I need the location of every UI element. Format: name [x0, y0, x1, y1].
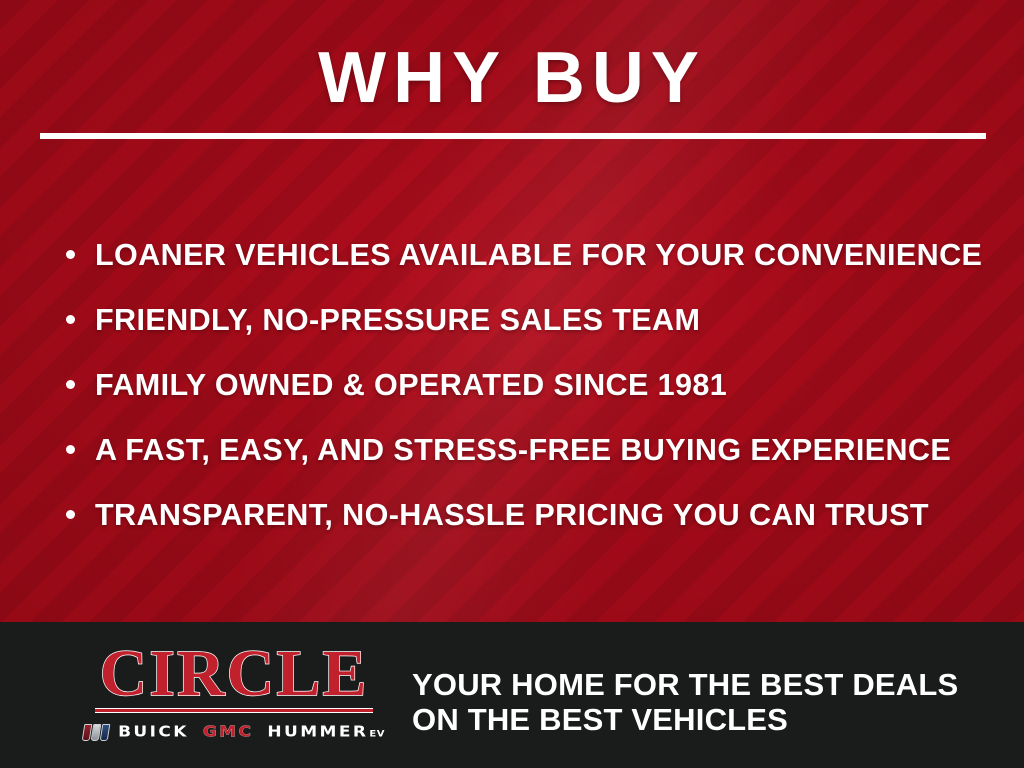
- brand-label-hummer-ev-suffix: EV: [369, 730, 385, 740]
- logo-wordmark: CIRCLE: [88, 642, 380, 705]
- benefits-list: LOANER VEHICLES AVAILABLE FOR YOUR CONVE…: [64, 222, 984, 547]
- title-divider-rule: [40, 133, 986, 139]
- brand-label-hummer-group: HUMMER EV: [267, 722, 385, 742]
- list-item-label: LOANER VEHICLES AVAILABLE FOR YOUR CONVE…: [95, 237, 982, 273]
- bullet-dot-icon: [66, 250, 75, 259]
- slide-body: WHY BUY LOANER VEHICLES AVAILABLE FOR YO…: [0, 0, 1024, 622]
- bullet-dot-icon: [66, 510, 75, 519]
- footer-tagline: YOUR HOME FOR THE BEST DEALS ON THE BEST…: [412, 668, 958, 737]
- brand-strip: BUICK GMC HUMMER EV: [88, 722, 380, 742]
- brand-label-gmc: GMC: [203, 724, 254, 742]
- bullet-dot-icon: [66, 445, 75, 454]
- buick-tri-shield-icon: [83, 724, 109, 741]
- footer-bar: CIRCLE BUICK GMC HUMMER EV YOUR HOME F: [0, 622, 1024, 768]
- bullet-dot-icon: [66, 380, 75, 389]
- dealership-logo: CIRCLE BUICK GMC HUMMER EV: [88, 642, 380, 742]
- list-item: FAMILY OWNED & OPERATED SINCE 1981: [64, 352, 984, 417]
- brand-label-hummer: HUMMER: [267, 724, 368, 742]
- list-item: LOANER VEHICLES AVAILABLE FOR YOUR CONVE…: [64, 222, 984, 287]
- list-item-label: FRIENDLY, NO-PRESSURE SALES TEAM: [95, 302, 700, 338]
- tagline-line-2: ON THE BEST VEHICLES: [412, 703, 958, 738]
- tagline-line-1: YOUR HOME FOR THE BEST DEALS: [412, 668, 958, 703]
- list-item-label: TRANSPARENT, NO-HASSLE PRICING YOU CAN T…: [95, 497, 929, 533]
- page-title: WHY BUY: [0, 42, 1024, 114]
- list-item-label: FAMILY OWNED & OPERATED SINCE 1981: [95, 367, 727, 403]
- list-item: TRANSPARENT, NO-HASSLE PRICING YOU CAN T…: [64, 482, 984, 547]
- why-buy-slide: WHY BUY LOANER VEHICLES AVAILABLE FOR YO…: [0, 0, 1024, 768]
- list-item-label: A FAST, EASY, AND STRESS-FREE BUYING EXP…: [95, 432, 951, 468]
- list-item: FRIENDLY, NO-PRESSURE SALES TEAM: [64, 287, 984, 352]
- brand-label-buick: BUICK: [118, 724, 189, 742]
- list-item: A FAST, EASY, AND STRESS-FREE BUYING EXP…: [64, 417, 984, 482]
- bullet-dot-icon: [66, 315, 75, 324]
